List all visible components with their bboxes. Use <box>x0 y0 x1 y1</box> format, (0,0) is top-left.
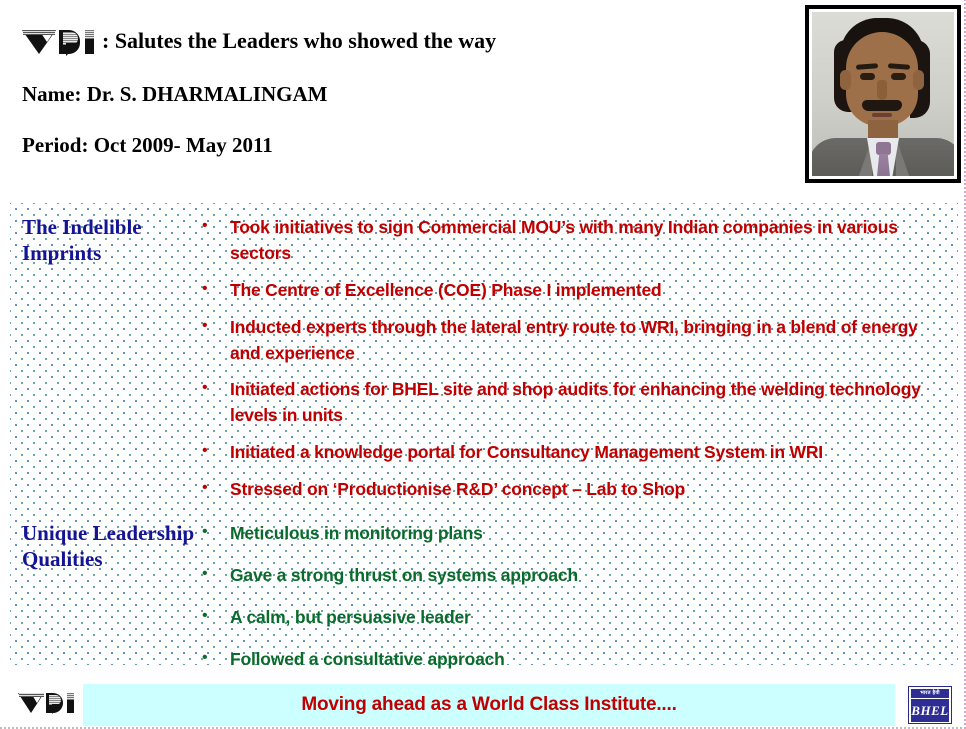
bullet-item: •Followed a consultative approach <box>202 647 947 673</box>
bullet-text: Initiated actions for BHEL site and shop… <box>230 377 947 429</box>
bhel-logo-icon: भारत हैवी BHEL <box>908 686 952 724</box>
bullet-item: •Inducted experts through the lateral en… <box>202 315 947 367</box>
bullet-item: •A calm, but persuasive leader <box>202 605 947 631</box>
bullet-text: The Centre of Excellence (COE) Phase I i… <box>230 278 662 304</box>
bullet-list-imprints: •Took initiatives to sign Commercial MOU… <box>202 215 947 514</box>
leader-photo-frame <box>805 5 961 183</box>
bullet-item: •Meticulous in monitoring plans <box>202 521 947 547</box>
footer-wri-logo <box>18 692 82 714</box>
bullet-list-qualities: •Meticulous in monitoring plans•Gave a s… <box>202 521 947 689</box>
bullet-text: A calm, but persuasive leader <box>230 605 471 631</box>
bullet-item: •Initiated actions for BHEL site and sho… <box>202 377 947 429</box>
bullet-dot-icon: • <box>202 278 230 300</box>
section-unique-leadership-qualities: Unique Leadership Qualities •Meticulous … <box>22 521 947 689</box>
portrait-photo <box>812 12 954 176</box>
bullet-item: •Gave a strong thrust on systems approac… <box>202 563 947 589</box>
bullet-item: •Initiated a knowledge portal for Consul… <box>202 440 947 466</box>
bullet-item: •Took initiatives to sign Commercial MOU… <box>202 215 947 267</box>
bullet-text: Gave a strong thrust on systems approach <box>230 563 578 589</box>
bullet-dot-icon: • <box>202 215 230 237</box>
bhel-logo-top-text: भारत हैवी <box>911 689 949 698</box>
bullet-text: Initiated a knowledge portal for Consult… <box>230 440 823 466</box>
wri-logo-icon <box>22 28 100 54</box>
wri-logo-icon <box>18 692 80 714</box>
section-heading-qualities: Unique Leadership Qualities <box>22 521 202 689</box>
bullet-dot-icon: • <box>202 477 230 499</box>
section-heading-imprints: The Indelible Imprints <box>22 215 202 514</box>
leader-period: Period: Oct 2009- May 2011 <box>22 133 273 158</box>
bullet-dot-icon: • <box>202 563 230 585</box>
bullet-dot-icon: • <box>202 521 230 543</box>
header-title-text: : Salutes the Leaders who showed the way <box>102 28 496 54</box>
bullet-item: •The Centre of Excellence (COE) Phase I … <box>202 278 947 304</box>
bullet-dot-icon: • <box>202 377 230 399</box>
content-panel: The Indelible Imprints •Took initiatives… <box>10 203 958 665</box>
bullet-text: Meticulous in monitoring plans <box>230 521 483 547</box>
bullet-dot-icon: • <box>202 315 230 337</box>
bhel-logo-main-text: BHEL <box>911 699 949 722</box>
bullet-text: Inducted experts through the lateral ent… <box>230 315 947 367</box>
footer-tagline: Moving ahead as a World Class Institute.… <box>301 694 676 716</box>
slide: : Salutes the Leaders who showed the way… <box>0 0 966 729</box>
slide-footer: Moving ahead as a World Class Institute.… <box>8 684 958 726</box>
slide-header: : Salutes the Leaders who showed the way… <box>0 0 800 190</box>
header-title-line: : Salutes the Leaders who showed the way <box>22 28 496 54</box>
bullet-text: Followed a consultative approach <box>230 647 505 673</box>
bullet-text: Took initiatives to sign Commercial MOU’… <box>230 215 947 267</box>
section-indelible-imprints: The Indelible Imprints •Took initiatives… <box>22 215 947 514</box>
bullet-item: •Stressed on ‘Productionise R&D’ concept… <box>202 477 947 503</box>
leader-name: Name: Dr. S. DHARMALINGAM <box>22 82 327 107</box>
bullet-text: Stressed on ‘Productionise R&D’ concept … <box>230 477 685 503</box>
bullet-dot-icon: • <box>202 440 230 462</box>
bullet-dot-icon: • <box>202 647 230 669</box>
footer-tagline-band: Moving ahead as a World Class Institute.… <box>83 684 895 726</box>
bullet-dot-icon: • <box>202 605 230 627</box>
